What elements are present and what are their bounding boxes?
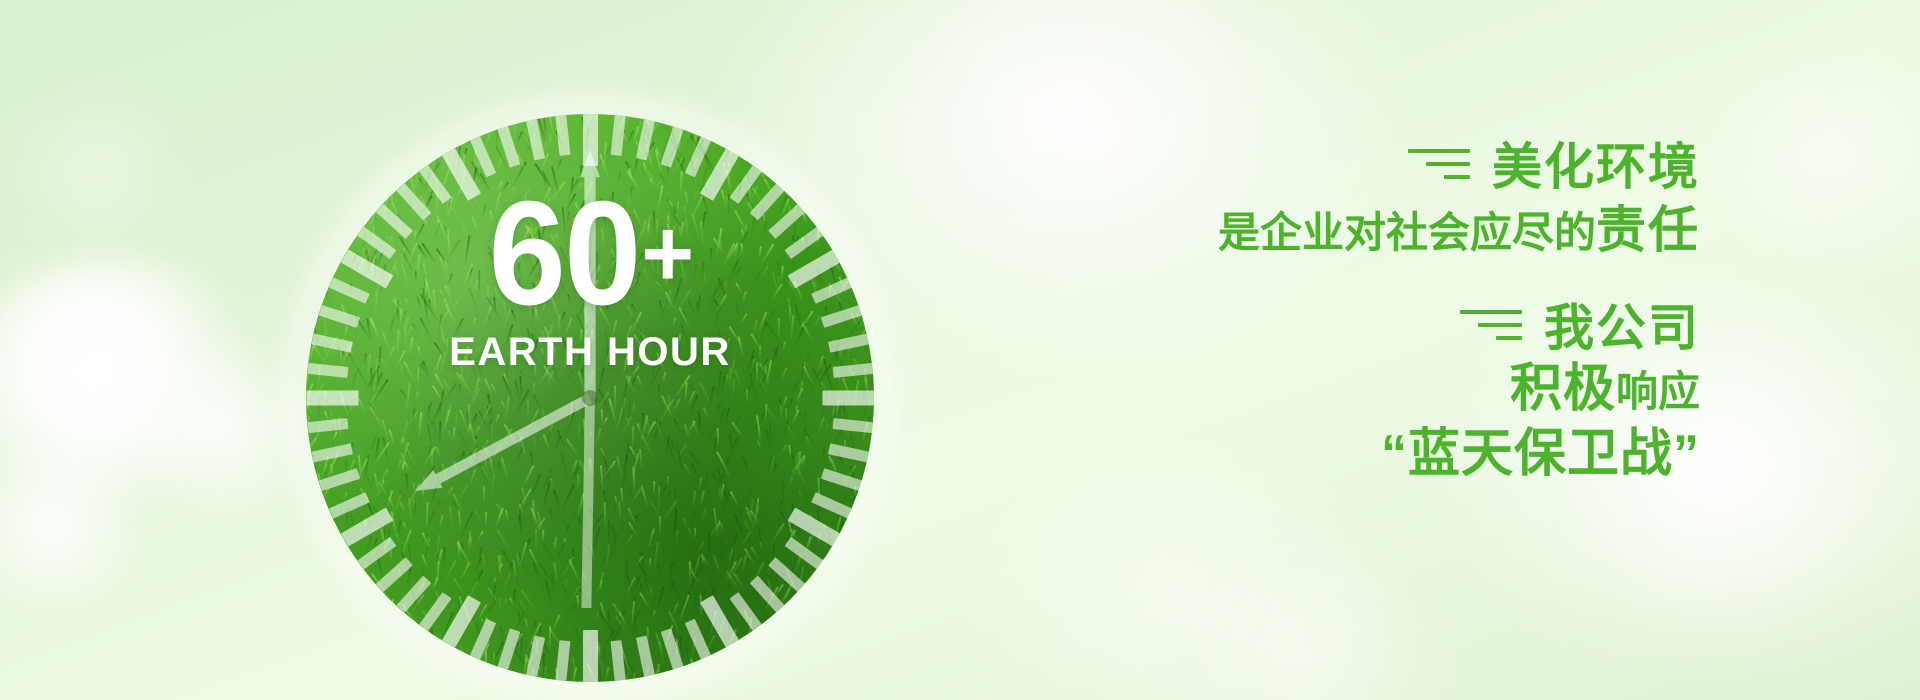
clock-tick xyxy=(635,119,654,160)
earth-hour-banner: 60+ EARTH HOUR 美化环境 是企业对社会应尽的责任 我公司 积极响应… xyxy=(0,0,1920,700)
clock-tick xyxy=(822,391,874,406)
clock-tick xyxy=(555,640,570,681)
clock-tick xyxy=(307,363,348,378)
clock-tick xyxy=(749,183,784,220)
clock-tick xyxy=(768,557,805,592)
slogan-one-sub-emphasis: 责任 xyxy=(1596,202,1700,258)
slogan-two-quote: “蓝天保卫战” xyxy=(1080,424,1700,485)
clock-tick xyxy=(749,576,784,613)
dash-lines-icon xyxy=(1408,149,1470,185)
slogan-two-lead: 我公司 xyxy=(1544,301,1700,355)
clock-tick xyxy=(357,227,396,259)
clock-tick xyxy=(307,418,348,433)
clock-tick xyxy=(497,628,520,669)
clock-tick xyxy=(635,636,654,677)
slogan-one-sub-plain: 是企业对社会应尽的 xyxy=(1218,209,1596,256)
clock-tick xyxy=(660,628,683,669)
clock-tick xyxy=(469,619,495,660)
bokeh-light-left-lower xyxy=(0,430,160,615)
slogan-block-one: 美化环境 是企业对社会应尽的责任 xyxy=(1080,140,1700,261)
slogan-block-two: 我公司 积极响应 “蓝天保卫战” xyxy=(1080,301,1700,486)
bokeh-light-top-right xyxy=(1700,40,1920,280)
clock-tick xyxy=(555,115,570,156)
slogan-two-big: 积极响应 xyxy=(1080,359,1700,420)
clock-tick xyxy=(469,136,495,177)
bokeh-light-top-left xyxy=(0,80,190,255)
clock-tick xyxy=(375,204,412,239)
clock-tick xyxy=(684,619,710,660)
clock-tick xyxy=(729,165,761,204)
clock-grass-face xyxy=(306,114,874,682)
dash-lines-icon-secondary xyxy=(1460,310,1522,346)
slogan-copy: 美化环境 是企业对社会应尽的责任 我公司 积极响应 “蓝天保卫战” xyxy=(1080,140,1700,486)
clock-tick xyxy=(526,119,545,160)
clock-tick xyxy=(318,468,359,491)
clock-tick xyxy=(811,492,852,518)
clock-tick xyxy=(832,363,873,378)
clock-tick xyxy=(729,592,761,631)
slogan-one-lead-row: 美化环境 xyxy=(1080,140,1700,194)
bokeh-light-bottom-center xyxy=(1150,540,1480,700)
clock-tick xyxy=(328,277,369,303)
clock-tick xyxy=(784,537,823,569)
clock-tick xyxy=(318,305,359,328)
clock-tick xyxy=(610,640,625,681)
bokeh-light-left-large xyxy=(0,255,260,505)
clock-tick xyxy=(306,391,358,406)
clock-tick xyxy=(768,204,805,239)
clock-tick xyxy=(497,126,520,167)
clock-tick xyxy=(311,443,352,462)
clock-tick xyxy=(684,136,710,177)
slogan-two-big-plain: 响应 xyxy=(1616,368,1700,415)
clock-tick xyxy=(419,165,451,204)
earth-hour-clock: 60+ EARTH HOUR xyxy=(290,98,890,698)
clock-tick xyxy=(357,537,396,569)
clock-center-pivot xyxy=(582,390,598,406)
clock-tick xyxy=(820,468,861,491)
clock-tick xyxy=(328,492,369,518)
clock-tick xyxy=(375,557,412,592)
clock-tick xyxy=(811,277,852,303)
clock-tick xyxy=(660,126,683,167)
clock-tick xyxy=(828,334,869,353)
clock-tick xyxy=(419,592,451,631)
slogan-one-lead: 美化环境 xyxy=(1492,140,1700,194)
clock-tick xyxy=(784,227,823,259)
slogan-two-big-emphasis: 积极 xyxy=(1510,360,1616,418)
clock-tick xyxy=(583,630,598,682)
clock-tick xyxy=(396,183,431,220)
clock-tick xyxy=(610,115,625,156)
clock-tick xyxy=(820,305,861,328)
clock-tick xyxy=(832,418,873,433)
slogan-two-lead-row: 我公司 xyxy=(1080,301,1700,355)
clock-tick xyxy=(311,334,352,353)
clock-tick xyxy=(526,636,545,677)
clock-tick xyxy=(828,443,869,462)
clock-tick xyxy=(396,576,431,613)
slogan-one-sub: 是企业对社会应尽的责任 xyxy=(1080,200,1700,261)
